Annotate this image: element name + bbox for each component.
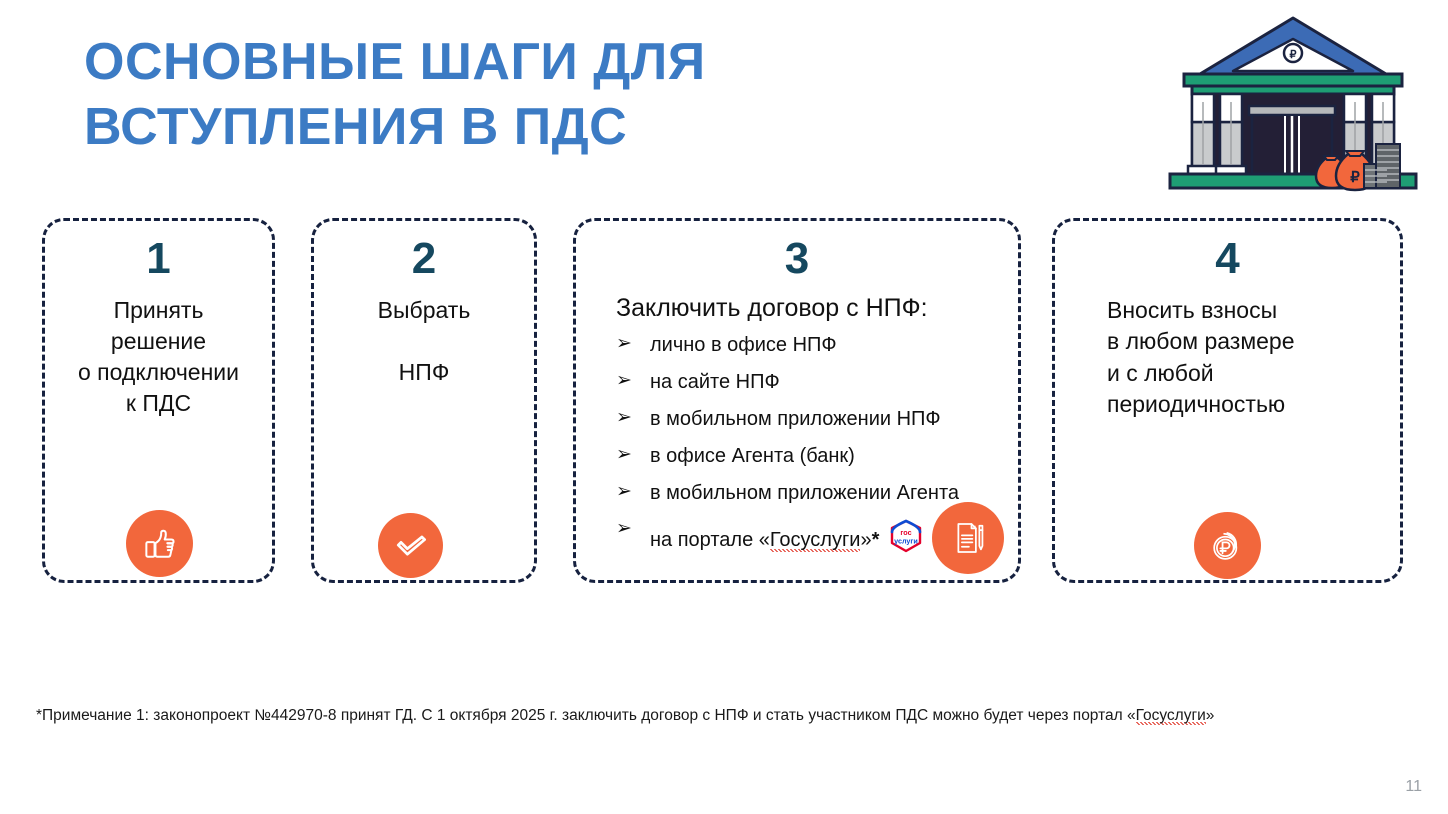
list-item: ➢ лично в офисе НПФ (616, 333, 1018, 357)
bank-building-illustration: ₽ (1148, 6, 1438, 201)
list-item: ➢ в офисе Агента (банк) (616, 444, 1018, 468)
bullet-arrow-icon: ➢ (616, 444, 632, 467)
list-item-label: на сайте НПФ (650, 371, 780, 393)
svg-text:услуги: услуги (895, 537, 919, 546)
footnote-asterisk: * (872, 529, 880, 551)
list-item-label: в офисе Агента (банк) (650, 445, 855, 467)
bullet-arrow-icon: ➢ (616, 370, 632, 393)
list-item-suffix: » (860, 529, 871, 551)
page-title: ОСНОВНЫЕ ШАГИ ДЛЯ ВСТУПЛЕНИЯ В ПДС (84, 30, 864, 160)
step-text-1: Принять решение о подключении к ПДС (45, 295, 272, 419)
page-number: 11 (1405, 778, 1422, 796)
footnote-prefix: *Примечание 1: законопроект №442970-8 пр… (36, 707, 1136, 724)
footnote-text: *Примечание 1: законопроект №442970-8 пр… (36, 706, 1416, 726)
list-item: ➢ в мобильном приложении НПФ (616, 407, 1018, 431)
gosuslugi-logo: госуслуги (886, 518, 926, 555)
step-number-4: 4 (1055, 237, 1400, 281)
bullet-arrow-icon: ➢ (616, 481, 632, 504)
step-text-2: Выбрать НПФ (314, 295, 534, 388)
thumbs-up-icon (126, 510, 193, 577)
step-number-1: 1 (45, 237, 272, 281)
gosuslugi-word: Госуслуги (770, 529, 861, 552)
step-text-4: Вносить взносы в любом размере и с любой… (1055, 295, 1400, 420)
step-number-3: 3 (576, 237, 1018, 281)
bullet-arrow-icon: ➢ (616, 333, 632, 356)
footnote-suffix: » (1206, 707, 1215, 724)
footnote-gosuslugi-word: Госуслуги (1136, 707, 1206, 725)
money-bag-ruble-symbol: ₽ (1350, 169, 1360, 186)
slide-root: ОСНОВНЫЕ ШАГИ ДЛЯ ВСТУПЛЕНИЯ В ПДС ₽ (0, 0, 1448, 814)
list-item-label: в мобильном приложении НПФ (650, 408, 941, 430)
ruble-coins-icon (1194, 512, 1261, 579)
step-heading-3: Заключить договор с НПФ: (576, 293, 1018, 323)
list-item-label: лично в офисе НПФ (650, 334, 837, 356)
check-mark-icon (378, 513, 443, 578)
list-item-label: в мобильном приложении Агента (650, 482, 959, 504)
bullet-arrow-icon: ➢ (616, 407, 632, 430)
bullet-arrow-icon: ➢ (616, 518, 632, 541)
list-item: ➢ на сайте НПФ (616, 370, 1018, 394)
list-item: ➢ в мобильном приложении Агента (616, 481, 1018, 505)
pediment-ruble-symbol: ₽ (1290, 49, 1297, 61)
step-number-2: 2 (314, 237, 534, 281)
list-item-prefix: на портале « (650, 529, 770, 551)
document-with-pen-icon (932, 502, 1004, 574)
